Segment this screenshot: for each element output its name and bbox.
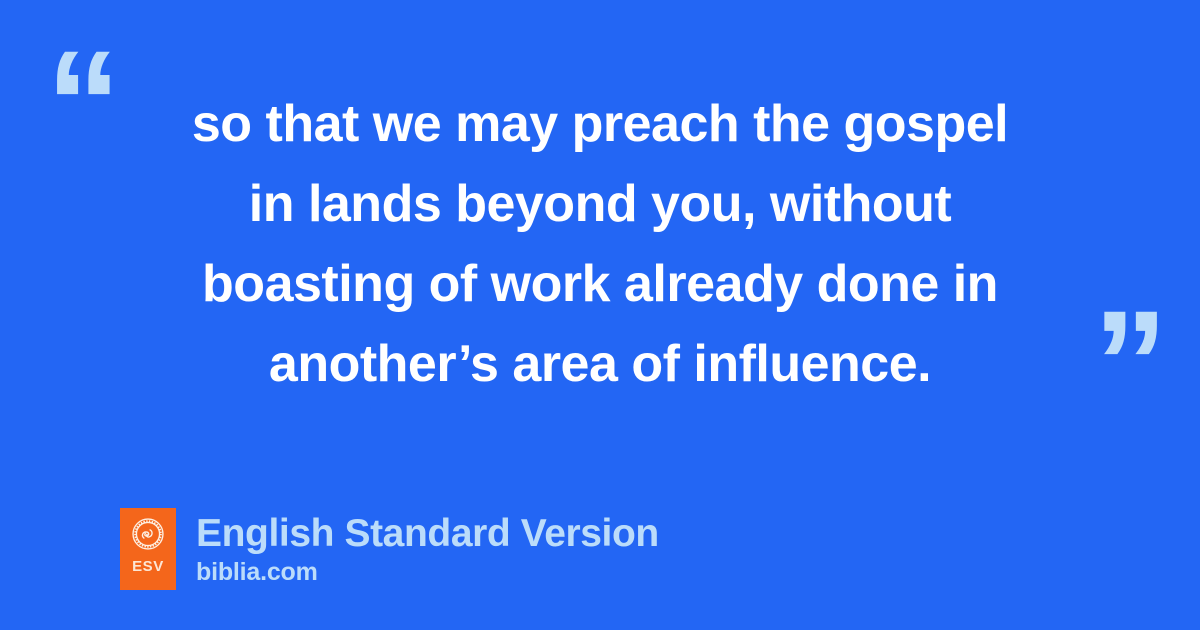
quote-line: in lands beyond you, without (96, 164, 1104, 244)
attribution-text: English Standard Version biblia.com (196, 512, 659, 586)
quote-line: another’s area of influence. (96, 324, 1104, 404)
esv-logo-label: ESV (132, 559, 164, 574)
quote-text-block: so that we may preach the gospel in land… (96, 84, 1104, 404)
quote-line: so that we may preach the gospel (96, 84, 1104, 164)
site-url[interactable]: biblia.com (196, 558, 659, 586)
closing-quotation-mark-icon: ” (1093, 288, 1166, 438)
esv-logo: ESV (120, 508, 176, 590)
bible-version-name: English Standard Version (196, 512, 659, 556)
esv-seal-icon (131, 517, 165, 551)
attribution: ESV English Standard Version biblia.com (120, 508, 659, 590)
bible-verse-share-card: “ so that we may preach the gospel in la… (0, 0, 1200, 630)
quote-line: boasting of work already done in (96, 244, 1104, 324)
